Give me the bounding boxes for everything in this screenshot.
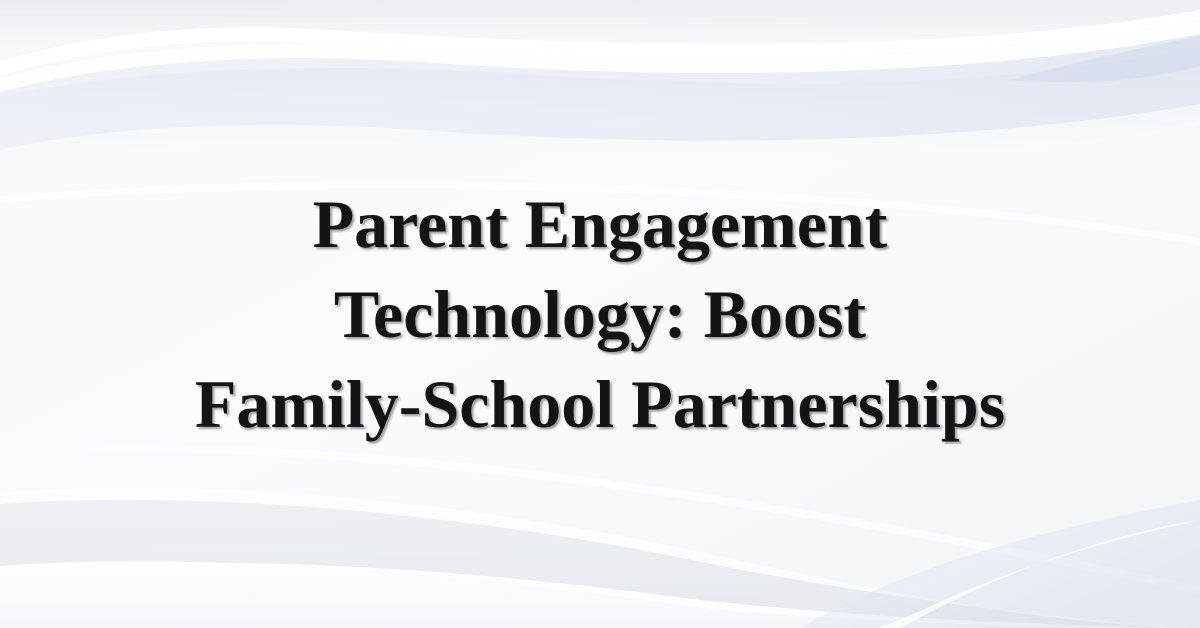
banner-card: Parent Engagement Technology: Boost Fami… (0, 0, 1200, 628)
title-container: Parent Engagement Technology: Boost Fami… (0, 0, 1200, 628)
page-title: Parent Engagement Technology: Boost Fami… (195, 179, 1005, 449)
